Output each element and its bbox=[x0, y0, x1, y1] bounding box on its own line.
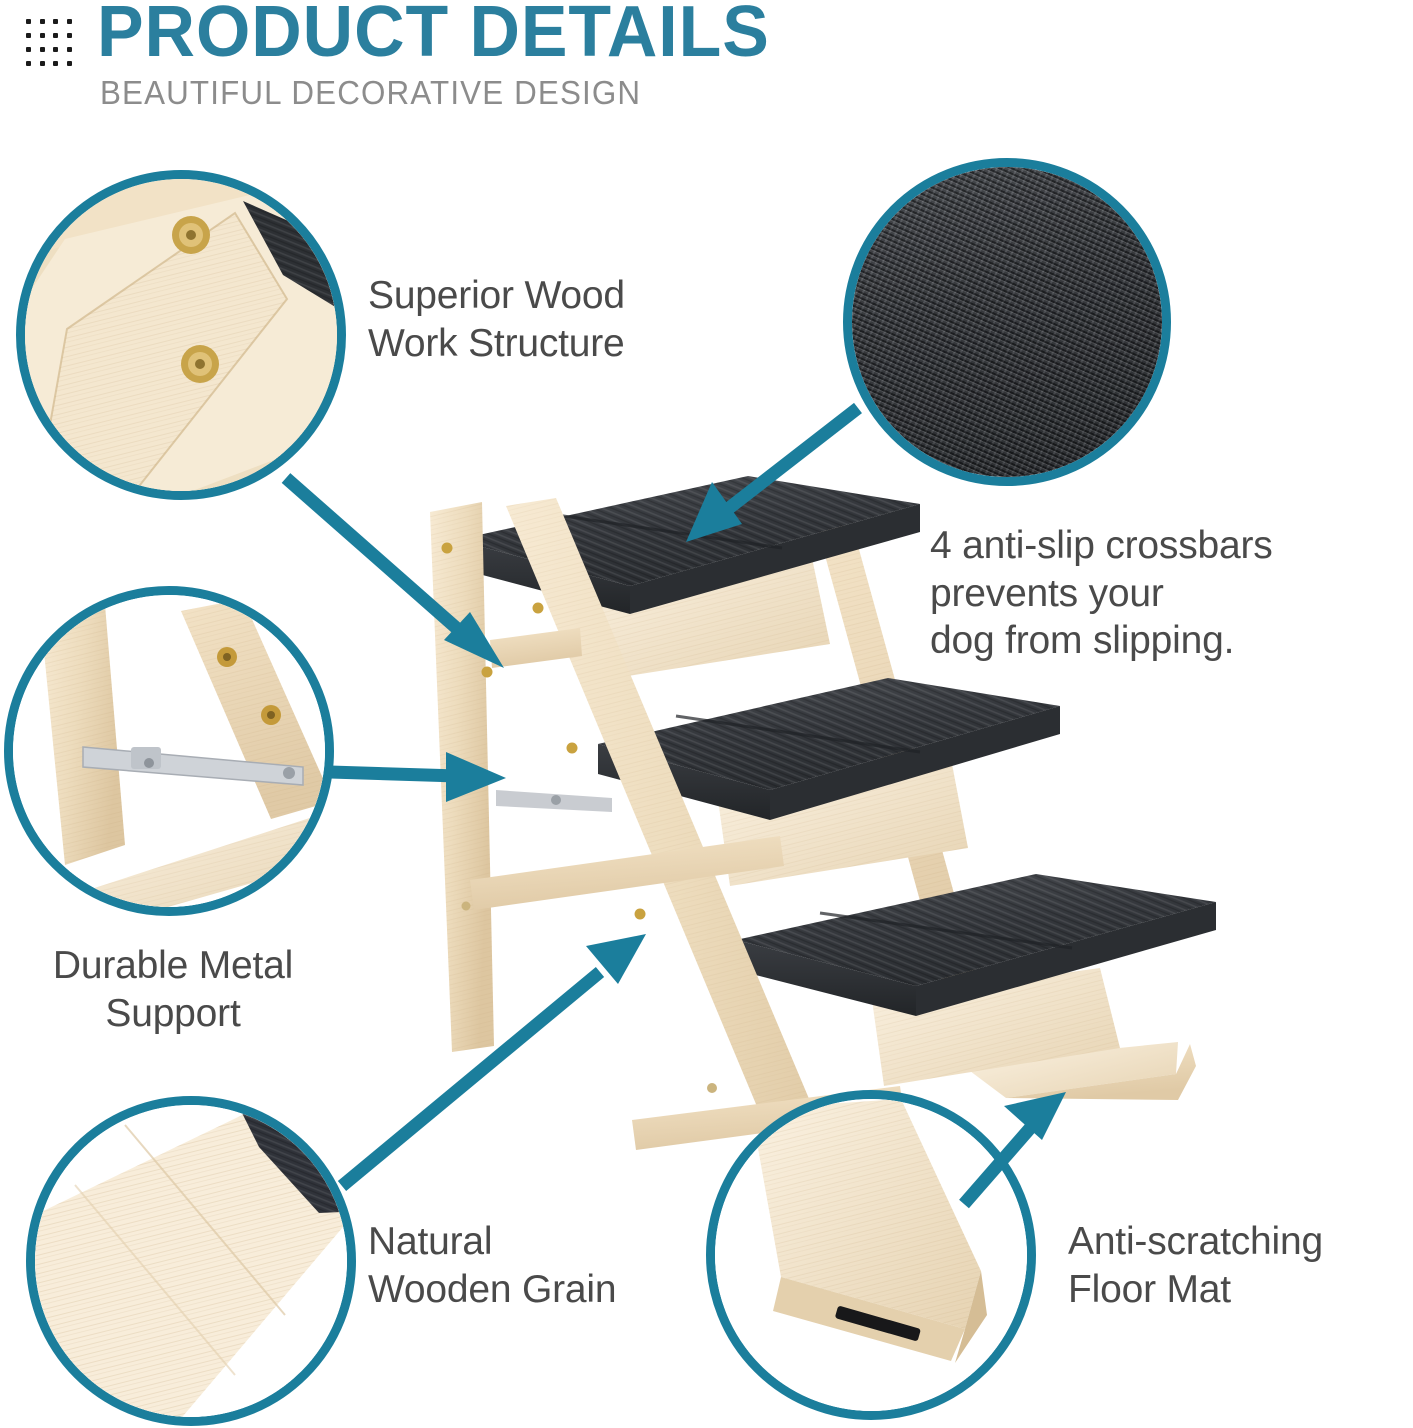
product-stretchers bbox=[470, 628, 904, 1150]
callout-label-anti-slip-crossbars: 4 anti-slip crossbars prevents your dog … bbox=[930, 522, 1400, 665]
arrow-line-wooden-grain bbox=[342, 972, 600, 1186]
callout-inset-anti-scratching-floor-mat bbox=[706, 1090, 1036, 1420]
product-step-3 bbox=[736, 874, 1216, 1086]
page-header: PRODUCT DETAILS BEAUTIFUL DECORATIVE DES… bbox=[0, 0, 1413, 130]
product-metal-brace bbox=[496, 790, 612, 812]
arrow-line-wood-structure bbox=[286, 478, 470, 640]
wood-grain-photo bbox=[35, 1105, 347, 1417]
callout-label-natural-wooden-grain: Natural Wooden Grain bbox=[368, 1218, 708, 1313]
product-rear-foot bbox=[1006, 1044, 1196, 1100]
arrow-line-anti-slip bbox=[724, 408, 858, 512]
product-front-post bbox=[430, 502, 494, 1052]
callout-inset-anti-slip-crossbars bbox=[843, 158, 1171, 486]
callout-inset-natural-wooden-grain bbox=[26, 1096, 356, 1426]
callout-inset-durable-metal-support bbox=[4, 586, 334, 916]
page-title: PRODUCT DETAILS bbox=[97, 0, 770, 68]
arrow-head-wood-structure bbox=[444, 612, 504, 668]
metal-brace-photo bbox=[13, 595, 325, 907]
arrow-head-floor-mat bbox=[1004, 1092, 1066, 1140]
arrow-head-anti-slip bbox=[686, 482, 742, 542]
page-subtitle: BEAUTIFUL DECORATIVE DESIGN bbox=[100, 74, 641, 112]
foot-pad-photo bbox=[715, 1099, 1027, 1411]
callout-label-anti-scratching-floor-mat: Anti-scratching Floor Mat bbox=[1068, 1218, 1413, 1313]
product-step-2 bbox=[598, 678, 1060, 886]
callout-inset-superior-wood-work-structure bbox=[16, 170, 346, 500]
product-step-1 bbox=[456, 476, 920, 682]
arrow-head-wooden-grain bbox=[586, 934, 646, 984]
carpet-texture-photo bbox=[852, 167, 1162, 477]
dot-grid-icon bbox=[22, 14, 76, 70]
callout-label-durable-metal-support: Durable Metal Support bbox=[0, 942, 346, 1037]
wood-joint-screws-photo bbox=[25, 179, 337, 491]
arrow-head-metal-support bbox=[446, 752, 506, 802]
callout-label-superior-wood-work-structure: Superior Wood Work Structure bbox=[368, 272, 748, 367]
arrow-line-metal-support bbox=[330, 772, 458, 776]
